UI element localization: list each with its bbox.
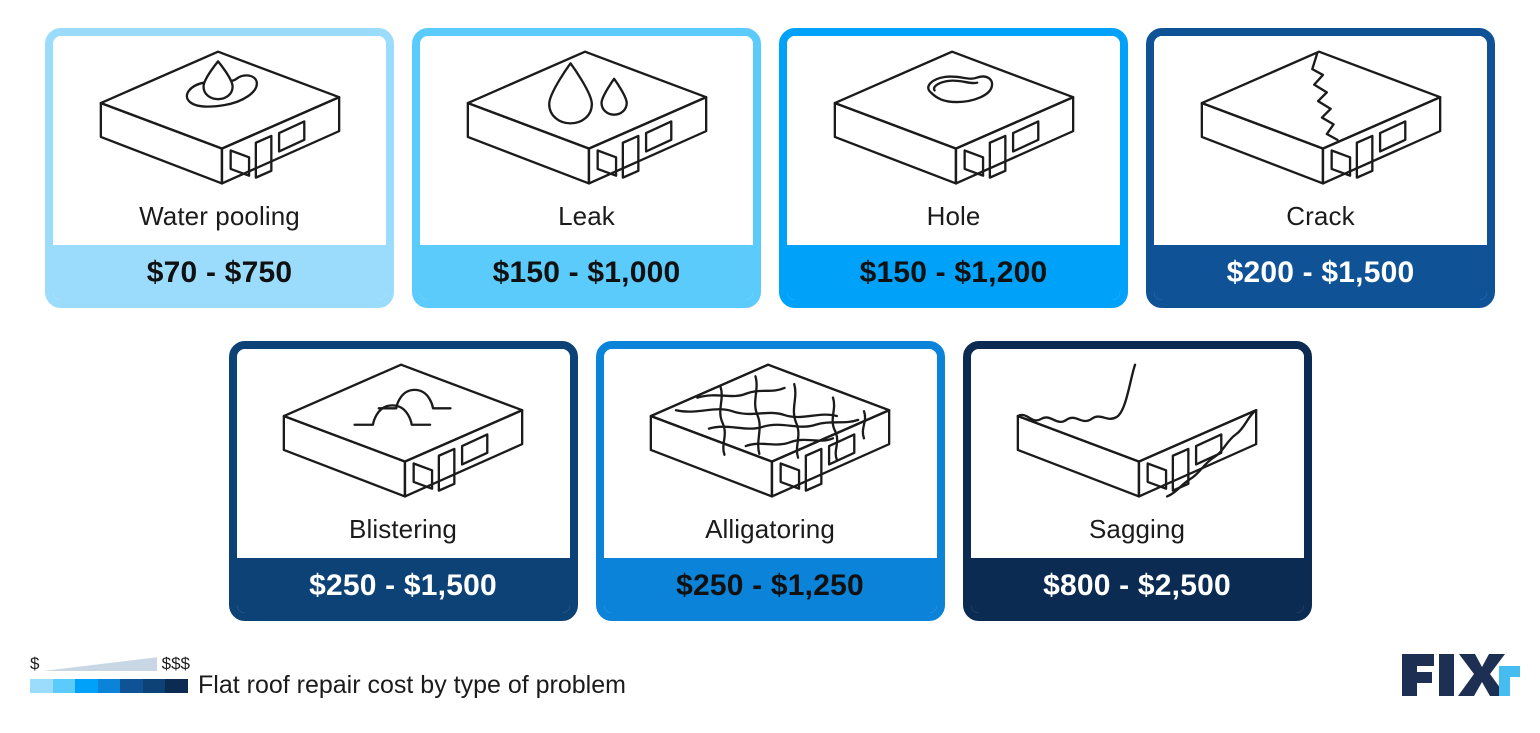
card-price-value: $150 - $1,000: [493, 256, 681, 290]
legend-swatch-4: [98, 679, 121, 693]
card-price-bar: $70 - $750: [53, 245, 386, 300]
legend-swatch-6: [143, 679, 166, 693]
card-row-top: Water pooling$70 - $750 Leak$150 - $1,00…: [0, 28, 1540, 308]
card-price-bar: $150 - $1,200: [787, 245, 1120, 300]
flat-roof-hole-icon: [819, 42, 1089, 197]
card-price-bar: $150 - $1,000: [420, 245, 753, 300]
legend-swatch-3: [75, 679, 98, 693]
legend-scale: $ $$$: [30, 652, 190, 693]
legend: $ $$$ Flat roof repair cost by type of p…: [30, 652, 1510, 712]
flat-roof-sagging-icon: [1002, 355, 1272, 510]
card-label: Blistering: [349, 510, 457, 558]
card-sagging[interactable]: Sagging$800 - $2,500: [963, 341, 1312, 621]
card-body: Alligatoring: [604, 349, 937, 558]
fixr-logo: [1400, 648, 1522, 700]
flat-roof-leak-icon: [452, 42, 722, 197]
card-leak[interactable]: Leak$150 - $1,000: [412, 28, 761, 308]
card-body: Leak: [420, 36, 753, 245]
card-label: Leak: [558, 197, 615, 245]
card-price-value: $200 - $1,500: [1227, 256, 1415, 290]
card-price-bar: $800 - $2,500: [971, 558, 1304, 613]
flat-roof-blistering-icon: [268, 355, 538, 510]
legend-low-label: $: [30, 655, 39, 672]
card-body: Water pooling: [53, 36, 386, 245]
card-blistering[interactable]: Blistering$250 - $1,500: [229, 341, 578, 621]
card-water-pooling[interactable]: Water pooling$70 - $750: [45, 28, 394, 308]
card-hole[interactable]: Hole$150 - $1,200: [779, 28, 1128, 308]
card-label: Alligatoring: [705, 510, 835, 558]
legend-color-swatches: [30, 679, 188, 693]
card-body: Crack: [1154, 36, 1487, 245]
card-body: Sagging: [971, 349, 1304, 558]
legend-swatch-1: [30, 679, 53, 693]
card-price-value: $70 - $750: [147, 256, 292, 290]
flat-roof-crack-icon: [1186, 42, 1456, 197]
card-price-value: $800 - $2,500: [1043, 569, 1231, 603]
card-body: Blistering: [237, 349, 570, 558]
card-alligatoring[interactable]: Alligatoring$250 - $1,250: [596, 341, 945, 621]
card-price-bar: $250 - $1,500: [237, 558, 570, 613]
card-label: Hole: [927, 197, 981, 245]
card-row-bottom: Blistering$250 - $1,500 Alligatoring$250…: [0, 341, 1540, 621]
legend-swatch-7: [165, 679, 188, 693]
card-price-bar: $250 - $1,250: [604, 558, 937, 613]
card-body: Hole: [787, 36, 1120, 245]
flat-roof-water-pooling-icon: [85, 42, 355, 197]
legend-high-label: $$$: [162, 655, 190, 672]
card-price-value: $250 - $1,250: [676, 569, 864, 603]
card-price-bar: $200 - $1,500: [1154, 245, 1487, 300]
legend-caption: Flat roof repair cost by type of problem: [198, 673, 626, 698]
flat-roof-alligatoring-icon: [635, 355, 905, 510]
infographic-root: Water pooling$70 - $750 Leak$150 - $1,00…: [0, 0, 1540, 733]
legend-ramp-triangle: [43, 655, 157, 671]
card-price-value: $250 - $1,500: [309, 569, 497, 603]
legend-scale-ramp-row: $ $$$: [30, 652, 190, 674]
card-label: Sagging: [1089, 510, 1185, 558]
card-crack[interactable]: Crack$200 - $1,500: [1146, 28, 1495, 308]
card-label: Crack: [1286, 197, 1354, 245]
card-price-value: $150 - $1,200: [860, 256, 1048, 290]
card-label: Water pooling: [139, 197, 300, 245]
legend-swatch-2: [53, 679, 76, 693]
legend-swatch-5: [120, 679, 143, 693]
